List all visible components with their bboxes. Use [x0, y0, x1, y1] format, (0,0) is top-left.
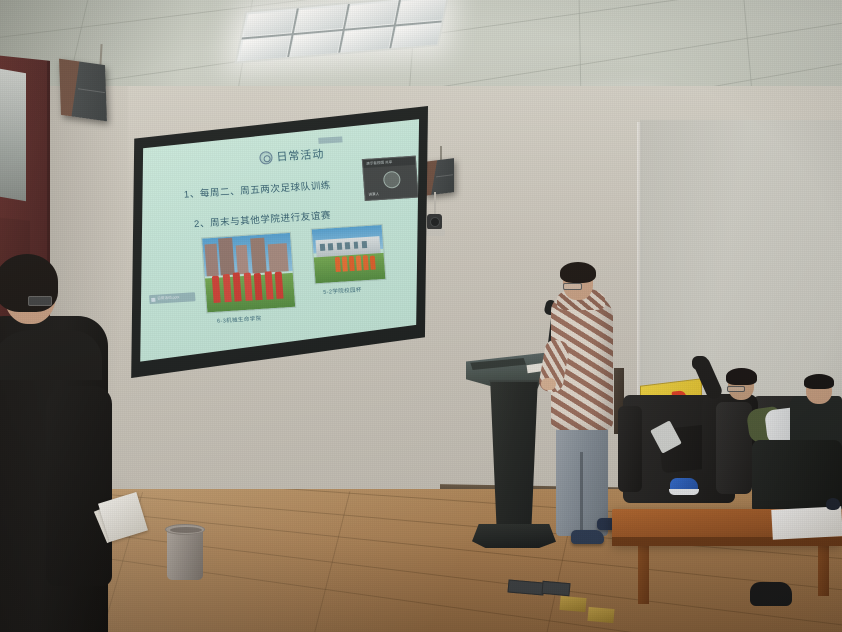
slide-photo-team-red [201, 232, 296, 314]
door-glass-panel [0, 68, 26, 201]
slide-photo-caption-1: 6-3机械生命学院 [217, 314, 262, 325]
slide-title: 日常活动 [276, 146, 325, 165]
taskbar-chip-label: 日常活动.pptx [157, 295, 179, 301]
coffee-table-leg-left [638, 546, 649, 604]
left-person-arm [46, 386, 112, 586]
floor-brass-cover-1 [559, 596, 586, 612]
slide-bullet-1: 1、每周二、周五两次足球队训练 [183, 177, 331, 200]
slide-taskbar-chip[interactable]: 日常活动.pptx [149, 292, 196, 304]
slide-photo-team-orange [311, 224, 387, 285]
slide-content: 日常活动 1、每周二、周五两次足球队训练 2、周末与其他学院进行友谊赛 [130, 114, 422, 367]
coffee-table-edge [612, 537, 842, 546]
left-person-shoulder [0, 330, 102, 380]
left-person-glasses-icon [28, 296, 52, 306]
floor-brass-cover-2 [587, 607, 614, 623]
trash-bin-rim [165, 524, 205, 535]
slide-photo-caption-2: 5-2学院校园杯 [323, 285, 362, 295]
seated-person-2-shoe [750, 582, 792, 606]
seated-person-1-hand [692, 356, 708, 370]
presenter-hair [560, 262, 596, 283]
seated-person-1-hair [726, 368, 757, 385]
presenter-pip-window[interactable]: 演示者视图 共享 讲演人 [362, 156, 419, 201]
university-seal-icon [259, 150, 273, 164]
sofa-left-armrest-near [618, 406, 642, 492]
podium-base [472, 524, 556, 548]
table-cup [826, 498, 840, 510]
coffee-table-leg-right [818, 546, 829, 596]
pip-presenter-name: 讲演人 [368, 192, 379, 198]
wall-speaker-left [59, 59, 107, 122]
seated-person-1-glasses-icon [727, 386, 745, 392]
wall-speaker-right [424, 158, 454, 196]
sofa-left-armrest-far [716, 402, 752, 494]
seated-person-2-hair [804, 374, 834, 389]
pip-seal-icon [383, 171, 401, 189]
seated-person-1-shoe-sole [669, 489, 699, 495]
photo-scene: 日常活动 1、每周二、周五两次足球队训练 2、周末与其他学院进行友谊赛 [0, 0, 842, 632]
presenter-shoe-front [571, 530, 604, 544]
slide-header: 日常活动 [259, 146, 325, 166]
slide-top-chip [318, 136, 342, 144]
pip-title: 演示者视图 共享 [366, 160, 392, 167]
slide-bullet-2: 2、周末与其他学院进行友谊赛 [193, 207, 331, 230]
ceiling-camera-icon [427, 214, 442, 230]
presentation-icon [151, 297, 155, 301]
table-document [771, 506, 842, 540]
pip-titlebar: 演示者视图 共享 [363, 157, 415, 168]
floor-cable-port-2 [541, 581, 570, 596]
projection-screen[interactable]: 日常活动 1、每周二、周五两次足球队训练 2、周末与其他学院进行友谊赛 [122, 106, 428, 378]
presenter-glasses-icon [563, 283, 582, 290]
presenter-hand [541, 378, 556, 390]
presenter-leg-seam [580, 452, 583, 536]
